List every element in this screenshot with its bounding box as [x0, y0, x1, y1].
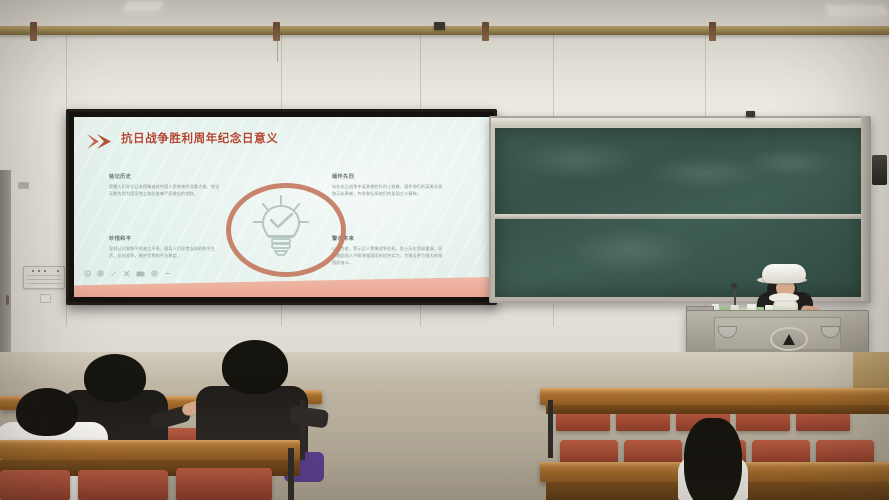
- chair[interactable]: [816, 440, 874, 464]
- student-head: [222, 340, 288, 394]
- desk-leg: [548, 400, 553, 458]
- chair[interactable]: [560, 440, 618, 464]
- block-heading: 缅怀先烈: [332, 173, 444, 180]
- chair[interactable]: [176, 468, 272, 500]
- slide-block-warn-future: 警示未来 以史为鉴，警示后人警惕战争危机，防止历史悲剧重演。同时激励国人不断增强…: [332, 235, 444, 266]
- floor-step: [853, 352, 889, 388]
- settings-icon[interactable]: [84, 270, 91, 277]
- student-hair: [684, 418, 742, 500]
- block-body: 提醒人们牢记日本侵略者给中国人民带来的深重灾难，铭记无数先烈为国家独立和民族尊严…: [109, 183, 221, 197]
- chevron-icon: [86, 133, 116, 150]
- presentation-slide: 抗日战争胜利周年纪念日意义 铭记历史 提醒人们牢记日本侵略者给中国人民带来的深重…: [74, 117, 489, 297]
- desk-underside: [546, 405, 889, 414]
- projection-screen[interactable]: 抗日战争胜利周年纪念日意义 铭记历史 提醒人们牢记日本侵略者给中国人民带来的深重…: [66, 109, 497, 305]
- blackboard-divider: [495, 214, 865, 219]
- desk: [0, 440, 300, 460]
- school-emblem: [770, 327, 808, 351]
- student-long-hair: [670, 418, 756, 500]
- close-icon[interactable]: [123, 270, 130, 277]
- emblem-triangle: [783, 334, 795, 345]
- student-head: [16, 388, 78, 436]
- more-icon[interactable]: [164, 270, 171, 277]
- slide-toolbar[interactable]: [84, 270, 171, 277]
- volume-icon[interactable]: [151, 270, 158, 277]
- wall-socket[interactable]: [40, 294, 51, 303]
- projector-cable: [277, 36, 278, 62]
- block-body: 向在抗日战争中英勇牺牲的烈士致敬，感怀他们的英勇无畏和无私奉献，传承和弘扬他们的…: [332, 183, 444, 197]
- presenter-cap: [762, 264, 806, 283]
- rail-bracket: [482, 22, 489, 41]
- classroom-scene: 抗日战争胜利周年纪念日意义 铭记历史 提醒人们牢记日本侵略者给中国人民带来的深重…: [0, 0, 889, 500]
- door-handle[interactable]: [6, 295, 9, 305]
- wall-sensor: [18, 182, 29, 189]
- blackboard-post: [861, 116, 870, 301]
- chair[interactable]: [752, 440, 810, 464]
- microphone-head: [731, 283, 737, 289]
- chalk-tray: [491, 118, 869, 127]
- rail-bracket: [30, 22, 37, 41]
- wall-device-box: [872, 155, 887, 185]
- bulb-glyph: [252, 195, 310, 262]
- desk-leg: [300, 400, 305, 460]
- pen-icon[interactable]: [110, 270, 117, 277]
- desk: [540, 388, 889, 405]
- record-icon[interactable]: [97, 270, 104, 277]
- wall-speaker: [746, 111, 755, 117]
- chair[interactable]: [78, 470, 168, 500]
- door-frame: [0, 170, 11, 370]
- block-body: 深刻认识到和平的来之不易，倡导人们珍惜当前的和平生活，反对战争，维护世界和平与稳…: [109, 245, 221, 259]
- block-heading: 警示未来: [332, 235, 444, 242]
- desk-leg: [288, 448, 294, 500]
- block-heading: 铭记历史: [109, 173, 221, 180]
- block-heading: 珍惜和平: [109, 235, 221, 242]
- ceiling-light: [124, 2, 162, 10]
- block-body: 以史为鉴，警示后人警惕战争危机，防止历史悲剧重演。同时激励国人不断增强国家的综合…: [332, 245, 444, 266]
- screen-icon[interactable]: [136, 270, 145, 277]
- slide-block-honor-martyrs: 缅怀先烈 向在抗日战争中英勇牺牲的烈士致敬，感怀他们的英勇无畏和无私奉献，传承和…: [332, 173, 444, 197]
- slide-title: 抗日战争胜利周年纪念日意义: [121, 130, 278, 146]
- chair[interactable]: [0, 470, 70, 500]
- ceiling-speaker: [434, 22, 445, 30]
- slide-block-remember-history: 铭记历史 提醒人们牢记日本侵略者给中国人民带来的深重灾难，铭记无数先烈为国家独立…: [109, 173, 221, 197]
- rail-bracket: [709, 22, 716, 41]
- lightbulb-check-icon: [226, 177, 336, 275]
- slide-block-cherish-peace: 珍惜和平 深刻认识到和平的来之不易，倡导人们珍惜当前的和平生活，反对战争，维护世…: [109, 235, 221, 259]
- wall-control-panel[interactable]: [23, 266, 65, 289]
- blackboard: [489, 116, 871, 303]
- ceiling-light: [826, 6, 888, 15]
